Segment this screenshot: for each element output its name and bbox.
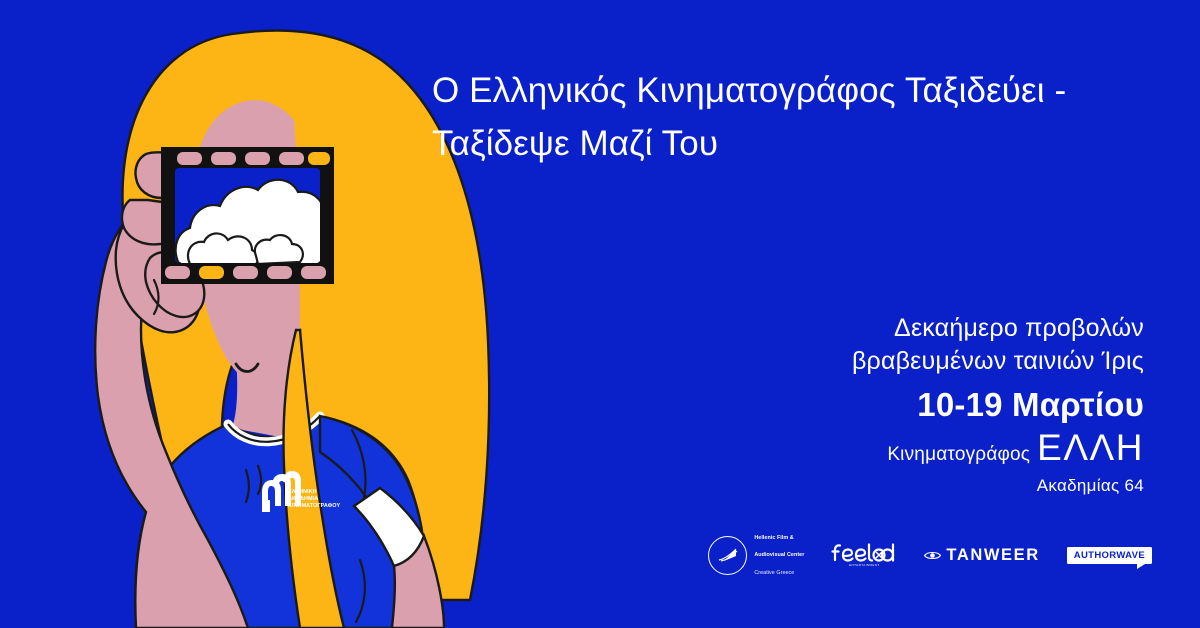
shirt-logo-line2: ΑΚΑΔΗΜΙΑ [288, 496, 318, 502]
poster-headline: Ο Ελληνικός Κινηματογράφος Ταξιδεύει - Τ… [432, 64, 1172, 170]
event-description-line1: Δεκαήμερο προβολών [674, 312, 1144, 345]
sponsor-hfac-line3: Creative Greece [754, 569, 804, 578]
sponsor-feelgood[interactable]: ENTERTAINMENT [831, 543, 897, 567]
feelgood-wordmark-icon [831, 543, 897, 562]
event-address: Ακαδημίας 64 [674, 476, 1144, 496]
poster-canvas: ΕΛΛΗΝΙΚΗ ΑΚΑΔΗΜΙΑ ΚΙΝΗΜΑΤΟΓΡΑΦΟΥ Ο Ελλην… [0, 0, 1200, 628]
sponsor-tanweer[interactable]: TANWEER [924, 546, 1039, 565]
sponsor-hfac-line2: Audiovisual Center [754, 551, 804, 560]
shirt-logo-line1: ΕΛΛΗΝΙΚΗ [288, 489, 317, 495]
sponsor-hfac-text: Hellenic Film & Audiovisual Center Creat… [754, 525, 804, 586]
eye-icon [924, 550, 941, 561]
event-info-block: Δεκαήμερο προβολών βραβευμένων ταινιών Ί… [674, 312, 1144, 496]
film-reel-swoosh-icon [708, 536, 747, 575]
sponsor-hfac-line1: Hellenic Film & [754, 534, 804, 543]
venue-label: Κινηματογράφος [887, 444, 1030, 465]
sponsor-feelgood-subtitle: ENTERTAINMENT [849, 563, 880, 567]
sponsor-authorwave[interactable]: AUTHORWAVE [1067, 547, 1152, 565]
sponsor-logo-bar: Hellenic Film & Audiovisual Center Creat… [708, 525, 1152, 586]
event-description-line2: βραβευμένων ταινιών Ίρις [674, 345, 1144, 378]
sponsor-tanweer-wordmark: TANWEER [946, 546, 1039, 565]
sponsor-hellenic-film-audiovisual-center[interactable]: Hellenic Film & Audiovisual Center Creat… [708, 525, 804, 586]
film-strip-icon [161, 147, 334, 284]
event-venue: ΚινηματογράφοςΕΛΛΗ [674, 428, 1144, 469]
shirt-logo-line3: ΚΙΝΗΜΑΤΟΓΡΑΦΟΥ [288, 503, 340, 509]
sponsor-authorwave-wordmark: AUTHORWAVE [1074, 551, 1145, 561]
event-dates: 10-19 Μαρτίου [674, 383, 1144, 427]
venue-name: ΕΛΛΗ [1037, 427, 1144, 468]
